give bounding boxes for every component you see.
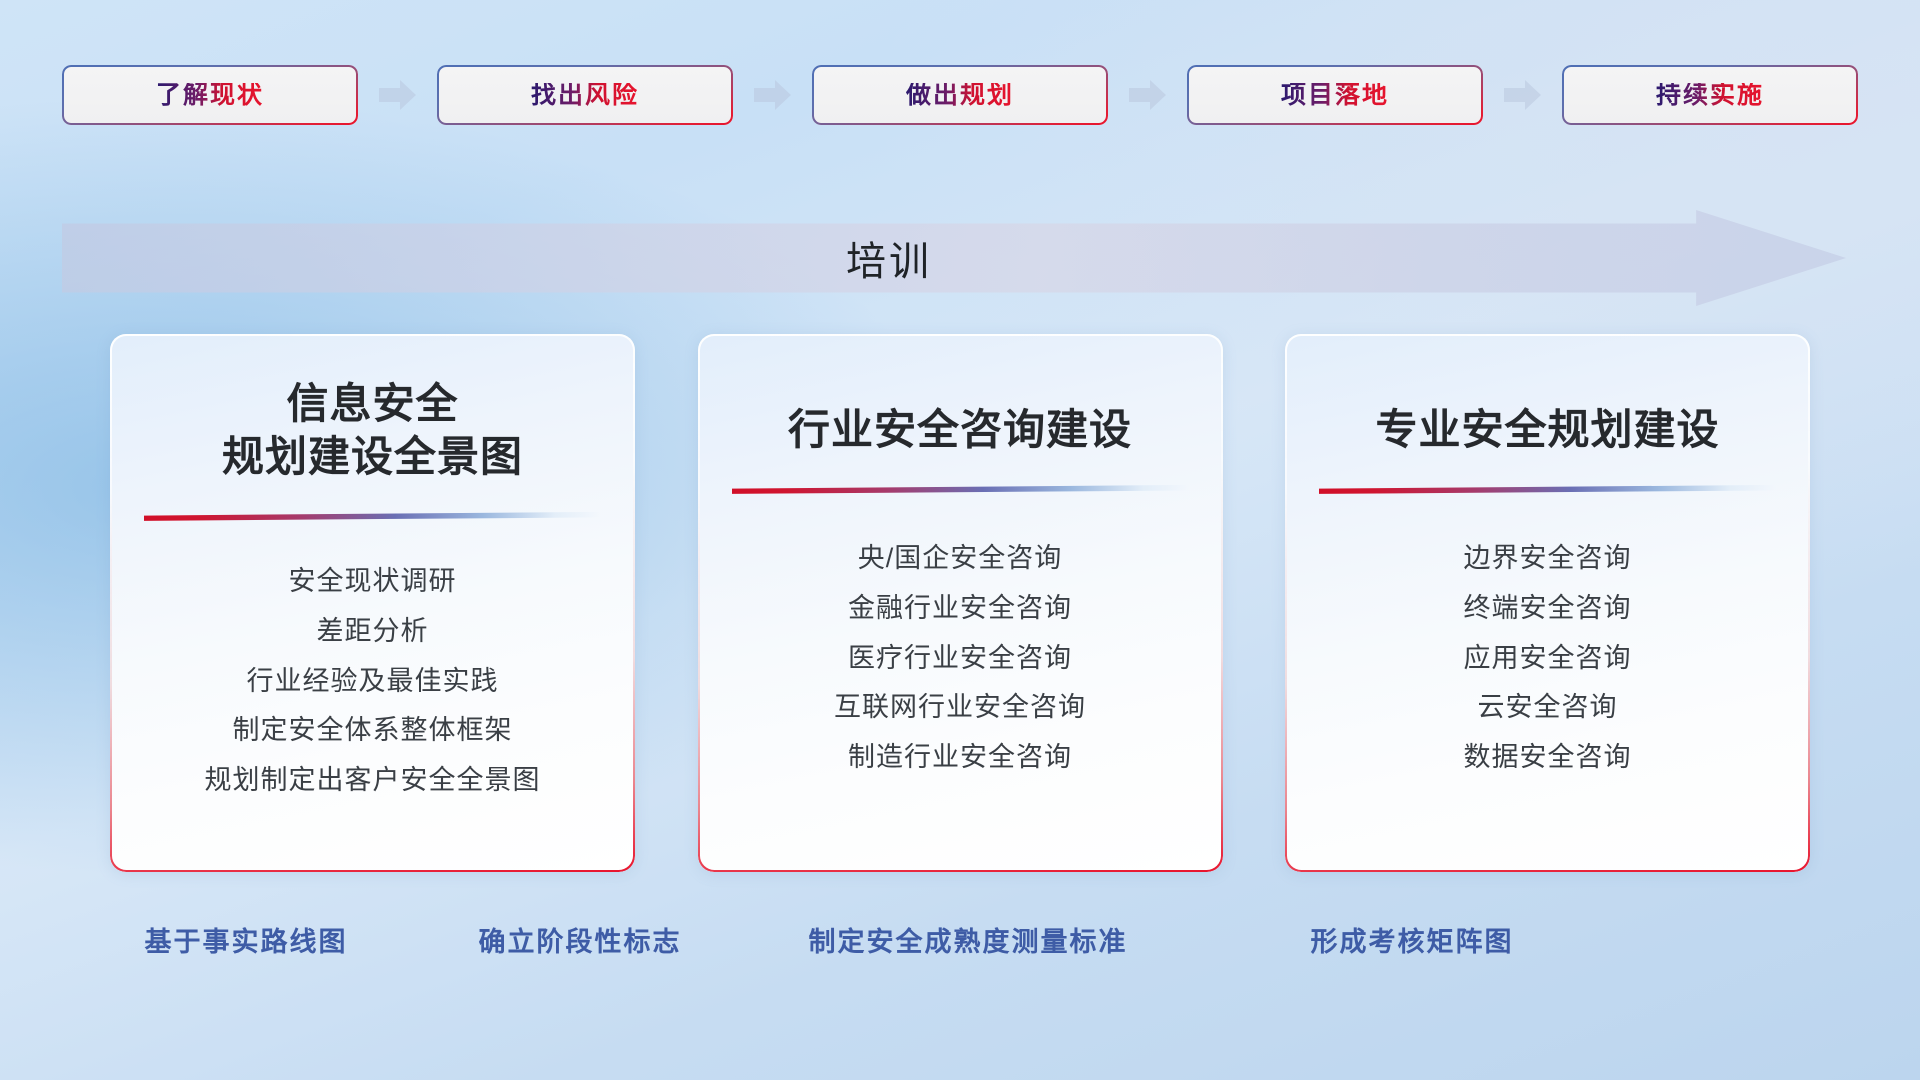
card-item-list: 央/国企安全咨询 金融行业安全咨询 医疗行业安全咨询 互联网行业安全咨询 制造行…	[732, 534, 1189, 783]
step-box-1[interactable]: 了解现状	[62, 65, 358, 125]
list-item: 金融行业安全咨询	[732, 584, 1189, 634]
card-content: 信息安全 规划建设全景图 安全现状调研 差距分析 行业经验及最佳实践 制定安全体…	[110, 334, 635, 872]
arrow-right-icon	[1129, 78, 1167, 112]
step-label: 了解现状	[156, 83, 264, 108]
banner-title: 培训	[62, 229, 1846, 287]
caption-label: 确立阶段性标志	[479, 920, 682, 959]
list-item: 互联网行业安全咨询	[732, 683, 1189, 733]
caption-label: 基于事实路线图	[145, 920, 348, 959]
caption-label: 制定安全成熟度测量标准	[809, 920, 1128, 959]
list-item: 规划制定出客户安全全景图	[144, 756, 601, 806]
list-item: 云安全咨询	[1319, 683, 1776, 733]
list-item: 央/国企安全咨询	[732, 534, 1189, 584]
card-divider	[732, 485, 1189, 494]
step-label: 持续实施	[1656, 83, 1764, 108]
list-item: 差距分析	[144, 607, 601, 657]
caption-row: 基于事实路线图 确立阶段性标志 制定安全成熟度测量标准 形成考核矩阵图	[0, 920, 1920, 968]
capability-card-1[interactable]: 信息安全 规划建设全景图 安全现状调研 差距分析 行业经验及最佳实践 制定安全体…	[110, 334, 635, 872]
list-item: 制造行业安全咨询	[732, 733, 1189, 783]
card-title: 行业安全咨询建设	[788, 404, 1132, 457]
card-content: 专业安全规划建设 边界安全咨询 终端安全咨询 应用安全咨询 云安全咨询 数据安全…	[1285, 334, 1810, 872]
list-item: 制定安全体系整体框架	[144, 706, 601, 756]
caption-label: 形成考核矩阵图	[1311, 920, 1514, 959]
card-title: 专业安全规划建设	[1375, 404, 1719, 457]
training-banner: 培训	[62, 210, 1846, 306]
card-item-list: 安全现状调研 差距分析 行业经验及最佳实践 制定安全体系整体框架 规划制定出客户…	[144, 557, 601, 806]
card-divider	[144, 512, 601, 521]
step-box-5[interactable]: 持续实施	[1562, 65, 1858, 125]
step-label: 做出规划	[906, 83, 1014, 108]
card-content: 行业安全咨询建设 央/国企安全咨询 金融行业安全咨询 医疗行业安全咨询 互联网行…	[698, 334, 1223, 872]
list-item: 安全现状调研	[144, 557, 601, 607]
process-step-row: 了解现状 找出风险 做出规划 项目落地	[62, 64, 1858, 126]
card-item-list: 边界安全咨询 终端安全咨询 应用安全咨询 云安全咨询 数据安全咨询	[1319, 534, 1776, 783]
step-box-2[interactable]: 找出风险	[437, 65, 733, 125]
list-item: 应用安全咨询	[1319, 634, 1776, 684]
step-label: 项目落地	[1281, 83, 1389, 108]
capability-card-row: 信息安全 规划建设全景图 安全现状调研 差距分析 行业经验及最佳实践 制定安全体…	[110, 334, 1810, 872]
arrow-right-icon	[379, 78, 417, 112]
list-item: 边界安全咨询	[1319, 534, 1776, 584]
slide-canvas: 了解现状 找出风险 做出规划 项目落地	[0, 0, 1920, 1080]
list-item: 数据安全咨询	[1319, 733, 1776, 783]
step-box-4[interactable]: 项目落地	[1187, 65, 1483, 125]
arrow-right-icon	[1504, 78, 1542, 112]
list-item: 医疗行业安全咨询	[732, 634, 1189, 684]
step-box-3[interactable]: 做出规划	[812, 65, 1108, 125]
card-divider	[1319, 485, 1776, 494]
step-label: 找出风险	[531, 83, 639, 108]
capability-card-3[interactable]: 专业安全规划建设 边界安全咨询 终端安全咨询 应用安全咨询 云安全咨询 数据安全…	[1285, 334, 1810, 872]
card-title: 信息安全 规划建设全景图	[222, 378, 523, 484]
arrow-right-icon	[754, 78, 792, 112]
list-item: 行业经验及最佳实践	[144, 657, 601, 707]
capability-card-2[interactable]: 行业安全咨询建设 央/国企安全咨询 金融行业安全咨询 医疗行业安全咨询 互联网行…	[698, 334, 1223, 872]
list-item: 终端安全咨询	[1319, 584, 1776, 634]
